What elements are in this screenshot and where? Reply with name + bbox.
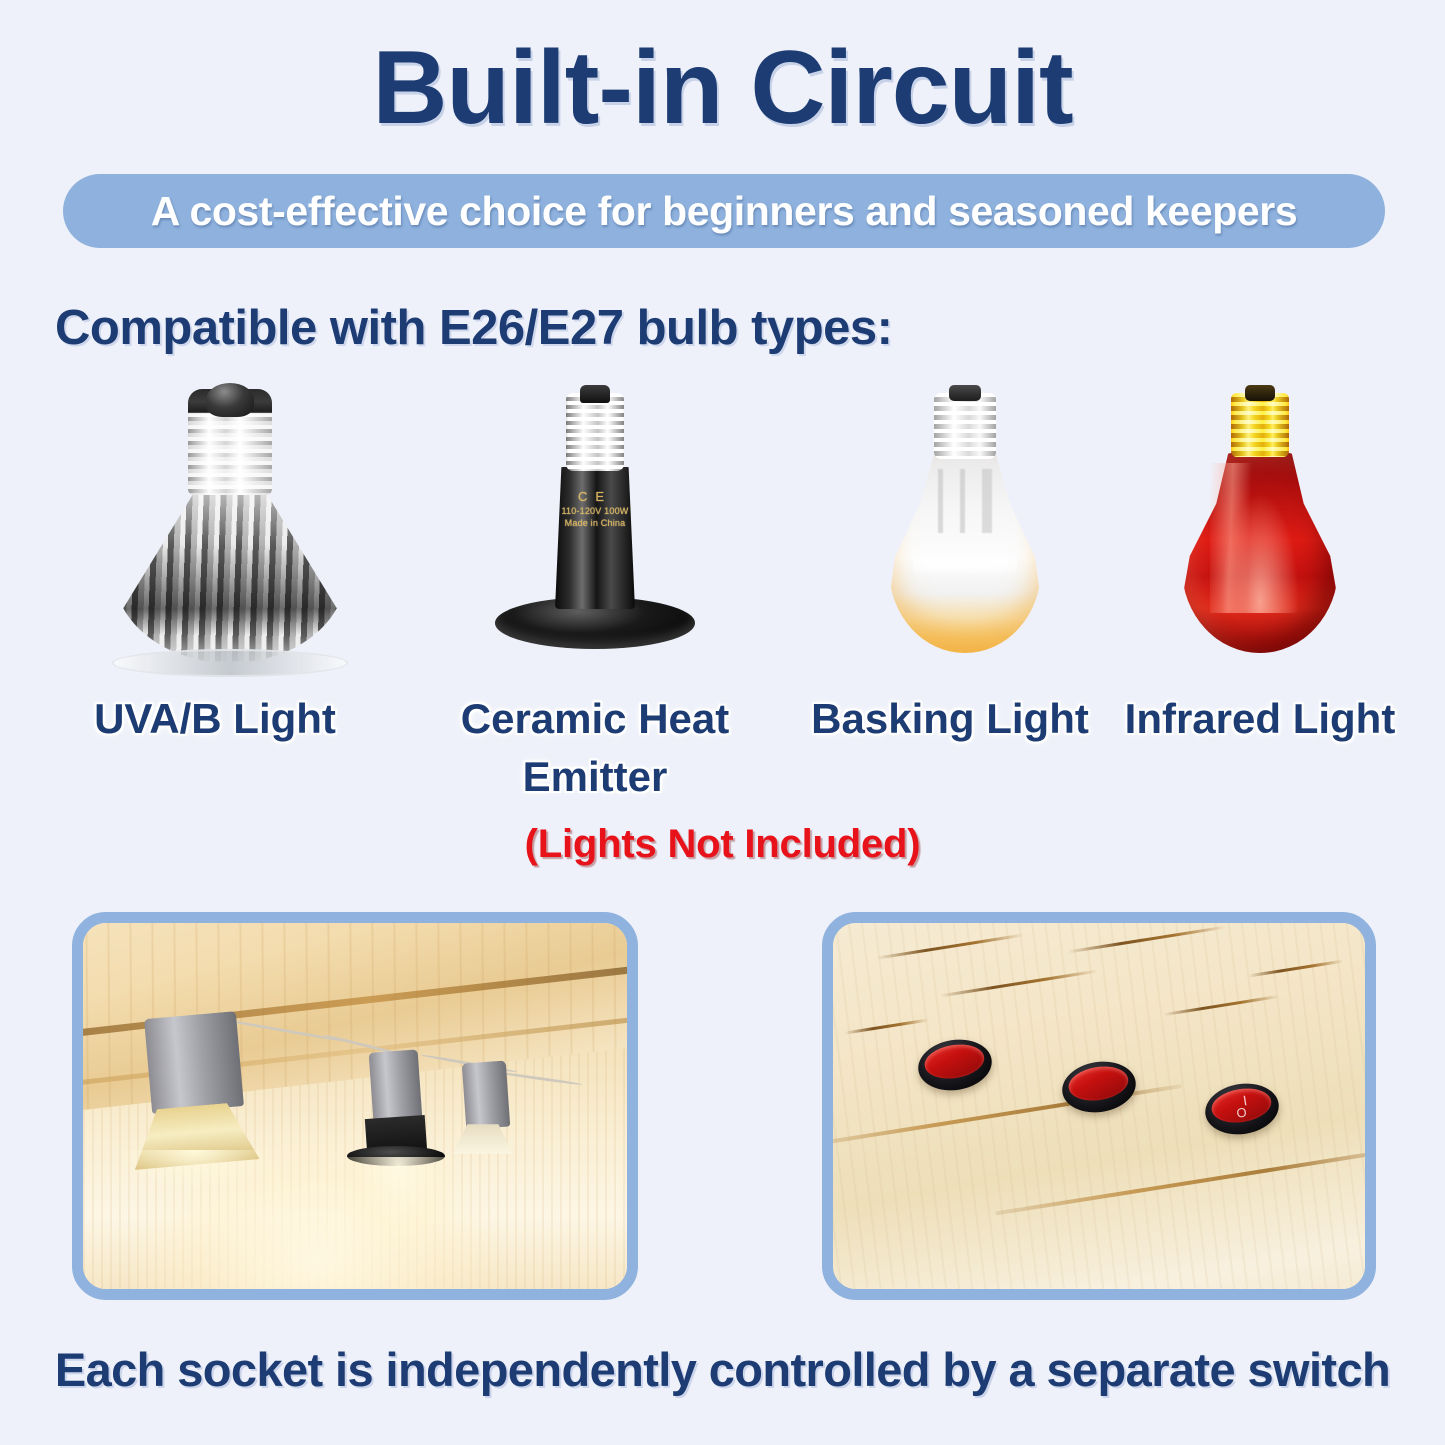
infrared-contact-tip-shape <box>1245 385 1275 401</box>
uv-rim-shape <box>112 649 348 677</box>
basking-highlight-shape <box>913 551 1017 577</box>
che-screw-base-shape <box>566 393 624 471</box>
sockets-in-enclosure-photo <box>72 912 638 1300</box>
bulb-label-infrared: Infrared Light <box>1110 690 1410 748</box>
ce-mark-text: CE <box>540 489 650 505</box>
subtitle-banner-text: A cost-effective choice for beginners an… <box>151 188 1297 235</box>
uv-reflector-shape <box>114 483 346 663</box>
page-title: Built-in Circuit <box>0 34 1445 143</box>
infrared-brass-base-shape <box>1231 393 1289 457</box>
uv-contact-tip-shape <box>206 383 254 417</box>
basking-contact-tip-shape <box>949 385 981 401</box>
lamp-socket-3 <box>462 1061 510 1130</box>
lamp-socket-1 <box>144 1011 244 1114</box>
lamp-socket-2 <box>369 1049 423 1122</box>
sockets-photo-content <box>83 923 627 1289</box>
bottom-caption: Each socket is independently controlled … <box>0 1342 1445 1397</box>
che-rating-text: 110-120V 100W <box>562 506 629 516</box>
bulb-label-ceramic-heat-emitter: Ceramic Heat Emitter <box>400 690 790 806</box>
che-origin-text: Made in China <box>565 518 626 528</box>
ceramic-heat-emitter-icon: CE 110-120V 100W Made in China <box>470 385 720 685</box>
bulb-label-basking: Basking Light <box>805 690 1095 748</box>
switches-photo-content: I O <box>833 923 1365 1289</box>
compatible-heading: Compatible with E26/E27 bulb types: <box>55 300 892 356</box>
bulb-1-light-pool <box>121 1150 268 1187</box>
basking-filament-shape <box>938 469 992 533</box>
bulb-2-light-pool <box>339 1157 459 1252</box>
basking-screw-base-shape <box>934 393 996 459</box>
basking-bulb-icon <box>845 385 1085 685</box>
che-printed-label: CE 110-120V 100W Made in China <box>540 489 650 529</box>
infographic-page: Built-in Circuit A cost-effective choice… <box>0 0 1445 1445</box>
bulb-label-uva-b: UVA/B Light <box>30 690 400 748</box>
che-contact-tip-shape <box>580 385 610 403</box>
infrared-highlight-shape <box>1210 463 1310 613</box>
bulb-row: CE 110-120V 100W Made in China <box>0 385 1445 685</box>
infrared-bulb-icon <box>1145 385 1375 685</box>
subtitle-banner: A cost-effective choice for beginners an… <box>63 174 1385 248</box>
rocker-switches-photo: I O <box>822 912 1376 1300</box>
lights-not-included-note: (Lights Not Included) <box>0 822 1445 867</box>
halogen-reflector-bulb-icon <box>100 385 360 685</box>
